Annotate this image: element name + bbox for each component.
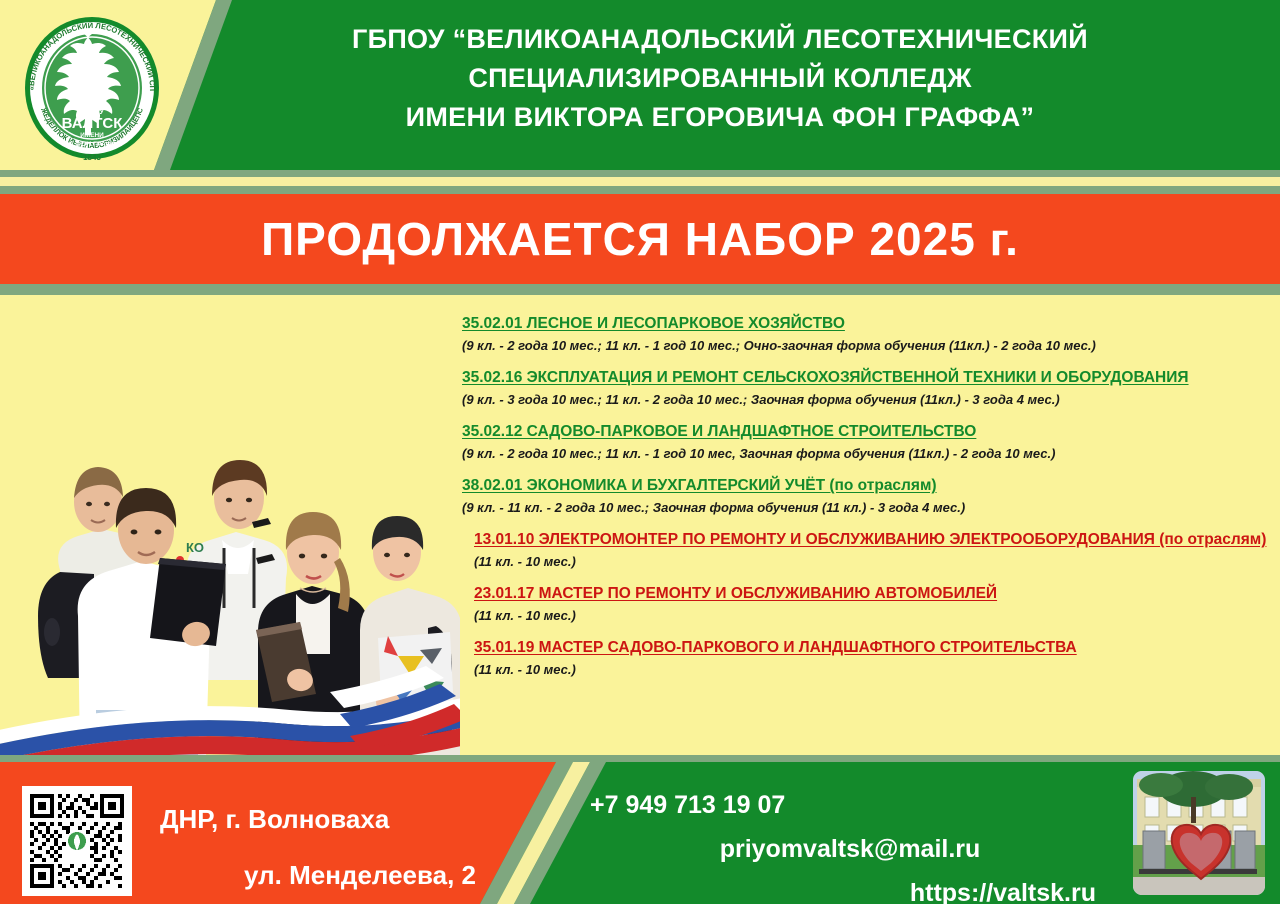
header-title-line-3: ИМЕНИ ВИКТОРА ЕГОРОВИЧА ФОН ГРАФФА” — [180, 98, 1260, 137]
header-title: ГБПОУ “ВЕЛИКОАНАДОЛЬСКИЙ ЛЕСОТЕХНИЧЕСКИЙ… — [180, 20, 1260, 137]
program-title[interactable]: 35.02.01 ЛЕСНОЕ И ЛЕСОПАРКОВОЕ ХОЗЯЙСТВО — [462, 313, 1272, 334]
divider-band-yellow — [0, 177, 1280, 186]
divider-band-sage-top — [0, 170, 1280, 177]
email-address[interactable]: priyomvaltsk@mail.ru — [590, 827, 1110, 871]
divider-band-under-banner — [0, 284, 1280, 295]
program-item: 35.01.19 МАСТЕР САДОВО-ПАРКОВОГО И ЛАНДШ… — [474, 637, 1272, 679]
college-logo: ГБПОУ «ВЕЛИКОАНАДОЛЬСКИЙ ЛЕСОТЕХНИЧЕСКИЙ… — [16, 12, 168, 162]
program-item: 35.02.12 САДОВО-ПАРКОВОЕ И ЛАНДШАФТНОЕ С… — [462, 421, 1272, 463]
admission-banner: ПРОДОЛЖАЕТСЯ НАБОР 2025 г. — [0, 194, 1280, 284]
poster-footer: ДНР, г. Волноваха ул. Менделеева, 2 +7 9… — [0, 755, 1280, 904]
program-title[interactable]: 38.02.01 ЭКОНОМИКА И БУХГАЛТЕРСКИЙ УЧЁТ … — [462, 475, 1272, 496]
program-details: (9 кл. - 3 года 10 мес.; 11 кл. - 2 года… — [462, 390, 1272, 409]
program-item: 35.02.16 ЭКСПЛУАТАЦИЯ И РЕМОНТ СЕЛЬСКОХО… — [462, 367, 1272, 409]
phone-number[interactable]: +7 949 713 19 07 — [590, 783, 1110, 827]
address-block: ДНР, г. Волноваха ул. Менделеева, 2 — [150, 791, 480, 903]
qr-code[interactable] — [22, 786, 132, 896]
program-details: (9 кл. - 2 года 10 мес.; 11 кл. - 1 год … — [462, 336, 1272, 355]
program-details: (11 кл. - 10 мес.) — [474, 606, 1272, 625]
program-details: (9 кл. - 2 года 10 мес.; 11 кл. - 1 год … — [462, 444, 1272, 463]
program-title[interactable]: 13.01.10 ЭЛЕКТРОМОНТЕР ПО РЕМОНТУ И ОБСЛ… — [474, 529, 1272, 550]
program-item: 35.02.01 ЛЕСНОЕ И ЛЕСОПАРКОВОЕ ХОЗЯЙСТВО… — [462, 313, 1272, 355]
svg-text:ИМЕНИ: ИМЕНИ — [80, 132, 104, 139]
footer-top-band — [0, 755, 1280, 762]
divider-band-sage-bottom — [0, 186, 1280, 194]
program-title[interactable]: 23.01.17 МАСТЕР ПО РЕМОНТУ И ОБСЛУЖИВАНИ… — [474, 583, 1272, 604]
program-title[interactable]: 35.01.19 МАСТЕР САДОВО-ПАРКОВОГО И ЛАНДШ… — [474, 637, 1272, 658]
admission-banner-text: ПРОДОЛЖАЕТСЯ НАБОР 2025 г. — [0, 194, 1280, 284]
svg-text:КО: КО — [186, 540, 204, 555]
program-details: (9 кл. - 11 кл. - 2 года 10 мес.; Заочна… — [462, 498, 1272, 517]
college-building-photo — [1133, 771, 1265, 895]
program-details: (11 кл. - 10 мес.) — [474, 552, 1272, 571]
address-line-2: ул. Менделеева, 2 — [150, 847, 480, 903]
program-item: 38.02.01 ЭКОНОМИКА И БУХГАЛТЕРСКИЙ УЧЁТ … — [462, 475, 1272, 517]
website-url[interactable]: https://valtsk.ru — [590, 871, 1110, 904]
header-title-line-1: ГБПОУ “ВЕЛИКОАНАДОЛЬСКИЙ ЛЕСОТЕХНИЧЕСКИЙ — [180, 20, 1260, 59]
header-title-line-2: СПЕЦИАЛИЗИРОВАННЫЙ КОЛЛЕДЖ — [180, 59, 1260, 98]
svg-text:1843: 1843 — [83, 153, 101, 162]
address-line-1: ДНР, г. Волноваха — [150, 791, 480, 847]
admissions-poster: ГБПОУ «ВЕЛИКОАНАДОЛЬСКИЙ ЛЕСОТЕХНИЧЕСКИЙ… — [0, 0, 1280, 904]
program-details: (11 кл. - 10 мес.) — [474, 660, 1272, 679]
contacts-block: +7 949 713 19 07 priyomvaltsk@mail.ru ht… — [590, 783, 1110, 904]
svg-text:В.Е.ФОН ГРАФФА: В.Е.ФОН ГРАФФА — [62, 141, 122, 148]
students-photo: КО — [0, 380, 460, 755]
svg-text:ВАЛТСК: ВАЛТСК — [62, 115, 124, 132]
poster-header: ГБПОУ «ВЕЛИКОАНАДОЛЬСКИЙ ЛЕСОТЕХНИЧЕСКИЙ… — [0, 0, 1280, 170]
program-item: 13.01.10 ЭЛЕКТРОМОНТЕР ПО РЕМОНТУ И ОБСЛ… — [474, 529, 1272, 571]
programs-list: 35.02.01 ЛЕСНОЕ И ЛЕСОПАРКОВОЕ ХОЗЯЙСТВО… — [462, 313, 1272, 691]
program-title[interactable]: 35.02.12 САДОВО-ПАРКОВОЕ И ЛАНДШАФТНОЕ С… — [462, 421, 1272, 442]
program-title[interactable]: 35.02.16 ЭКСПЛУАТАЦИЯ И РЕМОНТ СЕЛЬСКОХО… — [462, 367, 1272, 388]
program-item: 23.01.17 МАСТЕР ПО РЕМОНТУ И ОБСЛУЖИВАНИ… — [474, 583, 1272, 625]
